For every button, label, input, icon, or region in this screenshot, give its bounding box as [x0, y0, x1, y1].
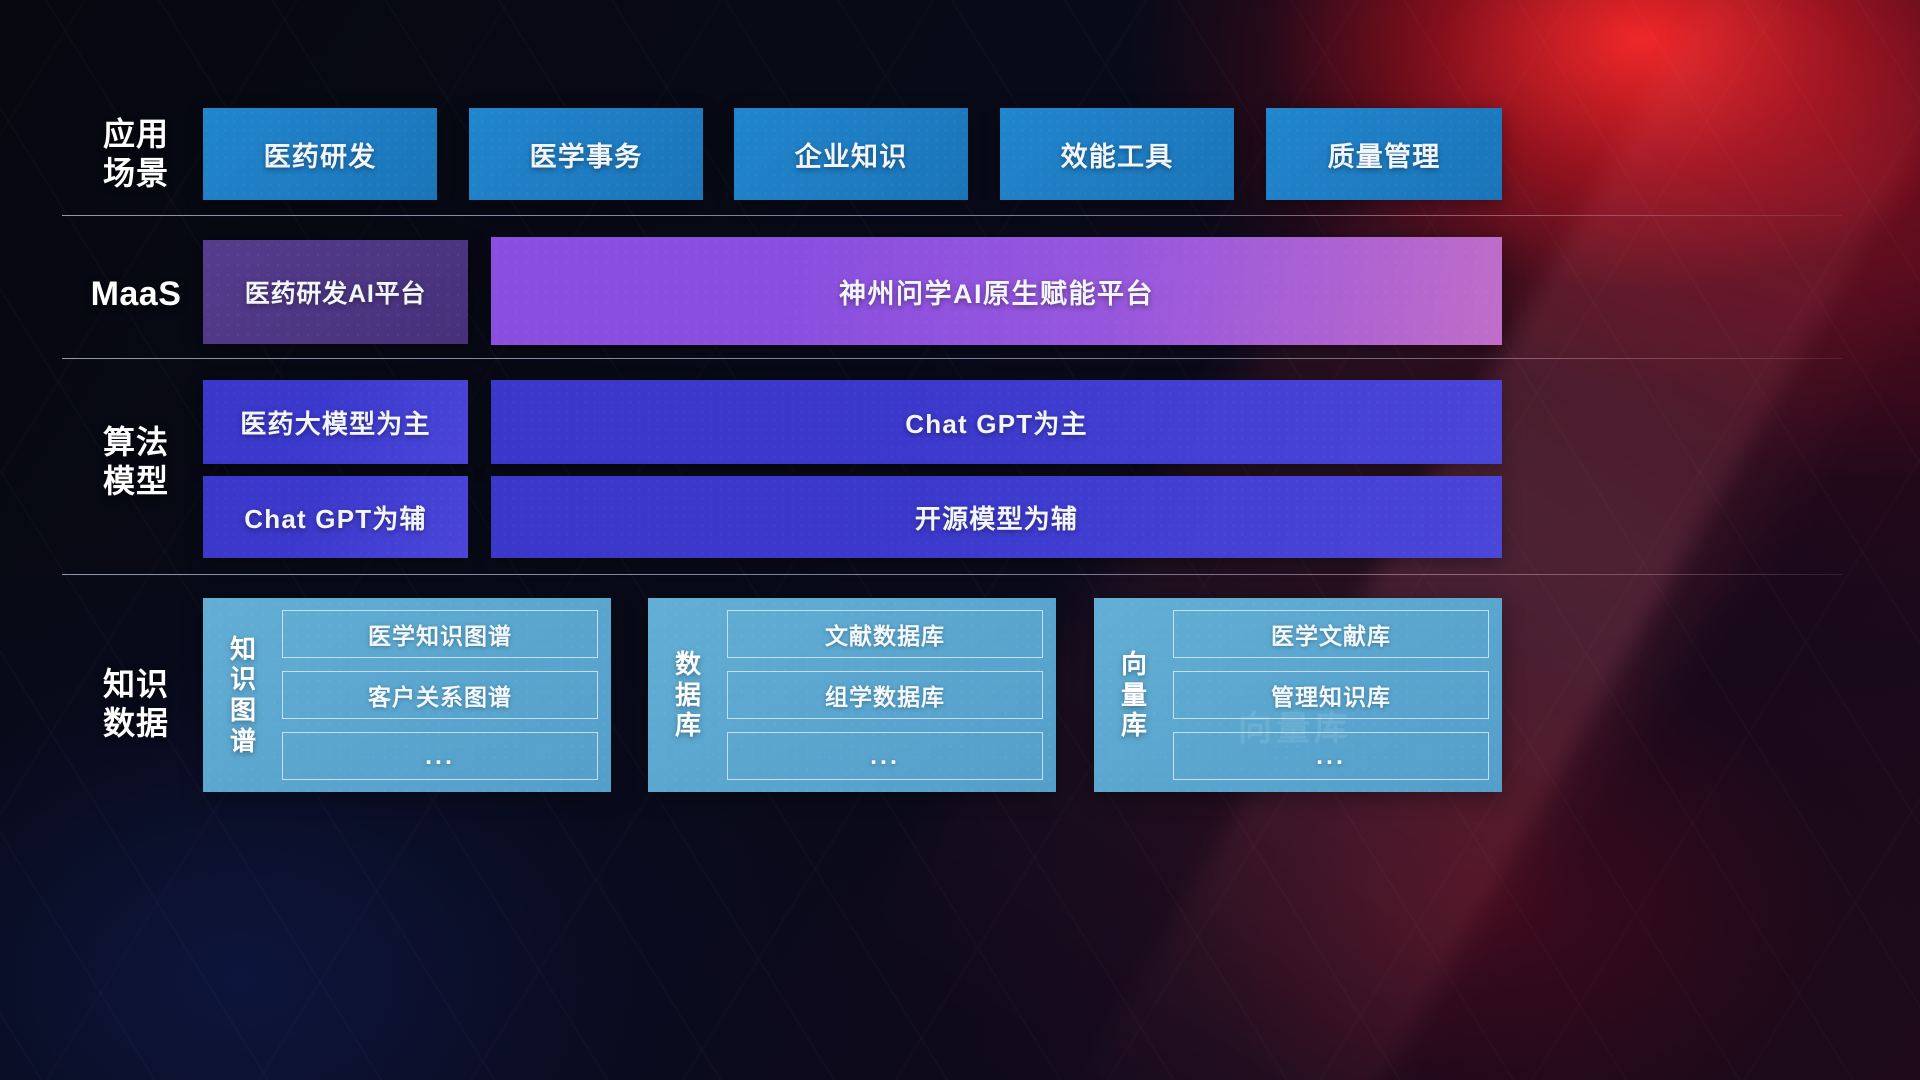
diagram-canvas: 应用 场景 医药研发 医学事务 企业知识 效能工具 质量管理 MaaS 医药研发…	[0, 0, 1920, 1080]
vlabel-char: 量	[1105, 680, 1163, 711]
vlabel-char: 谱	[214, 726, 272, 757]
vlabel-char: 图	[214, 695, 272, 726]
vlabel-char: 库	[659, 710, 717, 741]
row-divider-3	[62, 574, 1842, 575]
app-scenario-box-4[interactable]: 效能工具	[1000, 108, 1234, 200]
row-label-application-scenarios: 应用 场景	[66, 115, 206, 193]
vlabel-char: 数	[659, 649, 717, 680]
knowledge-panel-vertical-label: 向 量 库	[1105, 649, 1163, 741]
app-scenario-box-1[interactable]: 医药研发	[203, 108, 437, 200]
knowledge-item[interactable]: 组学数据库	[727, 671, 1043, 719]
knowledge-panel-vertical-label: 数 据 库	[659, 649, 717, 741]
algorithm-box-chatgpt-primary[interactable]: Chat GPT为主	[491, 380, 1502, 464]
algorithm-label: 开源模型为辅	[915, 499, 1078, 536]
row-divider-2	[62, 358, 1842, 359]
algorithm-box-opensource-secondary[interactable]: 开源模型为辅	[491, 476, 1502, 558]
vlabel-char: 库	[1105, 710, 1163, 741]
app-scenario-label: 医学事务	[530, 135, 643, 174]
knowledge-item[interactable]: 管理知识库	[1173, 671, 1489, 719]
algorithm-label: Chat GPT为主	[905, 404, 1087, 441]
app-scenario-box-5[interactable]: 质量管理	[1266, 108, 1502, 200]
knowledge-item-list: 医学知识图谱 客户关系图谱 ...	[282, 610, 598, 780]
vlabel-char: 向	[1105, 649, 1163, 680]
knowledge-item-list: 文献数据库 组学数据库 ...	[727, 610, 1043, 780]
knowledge-item[interactable]: 医学知识图谱	[282, 610, 598, 658]
maas-platform-box-shenzhou[interactable]: 神州问学AI原生赋能平台	[491, 237, 1502, 345]
algorithm-box-pharma-primary[interactable]: 医药大模型为主	[203, 380, 468, 464]
maas-platform-label: 医药研发AI平台	[245, 274, 426, 310]
row-label-line: 数据	[66, 704, 206, 743]
knowledge-panel-knowledge-graph[interactable]: 知 识 图 谱 医学知识图谱 客户关系图谱 ...	[203, 598, 611, 792]
knowledge-panel-vector-library[interactable]: 向 量 库 医学文献库 管理知识库 ... 向量库	[1094, 598, 1502, 792]
row-label-knowledge-data: 知识 数据	[66, 665, 206, 743]
app-scenario-box-3[interactable]: 企业知识	[734, 108, 968, 200]
knowledge-panel-database[interactable]: 数 据 库 文献数据库 组学数据库 ...	[648, 598, 1056, 792]
knowledge-item-list: 医学文献库 管理知识库 ...	[1173, 610, 1489, 780]
row-label-line: MaaS	[66, 274, 206, 315]
row-label-algorithm-models: 算法 模型	[66, 423, 206, 501]
row-label-line: 应用	[66, 115, 206, 154]
knowledge-item-more[interactable]: ...	[282, 732, 598, 780]
row-label-line: 场景	[66, 154, 206, 193]
algorithm-label: 医药大模型为主	[240, 404, 430, 441]
vlabel-char: 识	[214, 664, 272, 695]
app-scenario-label: 企业知识	[795, 135, 908, 174]
row-label-line: 模型	[66, 462, 206, 501]
knowledge-item[interactable]: 客户关系图谱	[282, 671, 598, 719]
knowledge-item[interactable]: 文献数据库	[727, 610, 1043, 658]
app-scenario-label: 质量管理	[1328, 135, 1441, 174]
knowledge-item[interactable]: 医学文献库	[1173, 610, 1489, 658]
knowledge-item-more[interactable]: ...	[1173, 732, 1489, 780]
vlabel-char: 据	[659, 680, 717, 711]
row-divider-1	[62, 215, 1842, 216]
app-scenario-label: 效能工具	[1061, 135, 1174, 174]
knowledge-panel-vertical-label: 知 识 图 谱	[214, 634, 272, 757]
row-label-line: 知识	[66, 665, 206, 704]
maas-platform-label: 神州问学AI原生赋能平台	[839, 272, 1154, 311]
row-label-maas: MaaS	[66, 274, 206, 315]
algorithm-label: Chat GPT为辅	[244, 499, 426, 536]
vlabel-char: 知	[214, 634, 272, 665]
algorithm-box-chatgpt-secondary[interactable]: Chat GPT为辅	[203, 476, 468, 558]
row-label-line: 算法	[66, 423, 206, 462]
app-scenario-box-2[interactable]: 医学事务	[469, 108, 703, 200]
maas-platform-box-pharma[interactable]: 医药研发AI平台	[203, 240, 468, 344]
knowledge-item-more[interactable]: ...	[727, 732, 1043, 780]
app-scenario-label: 医药研发	[264, 135, 377, 174]
